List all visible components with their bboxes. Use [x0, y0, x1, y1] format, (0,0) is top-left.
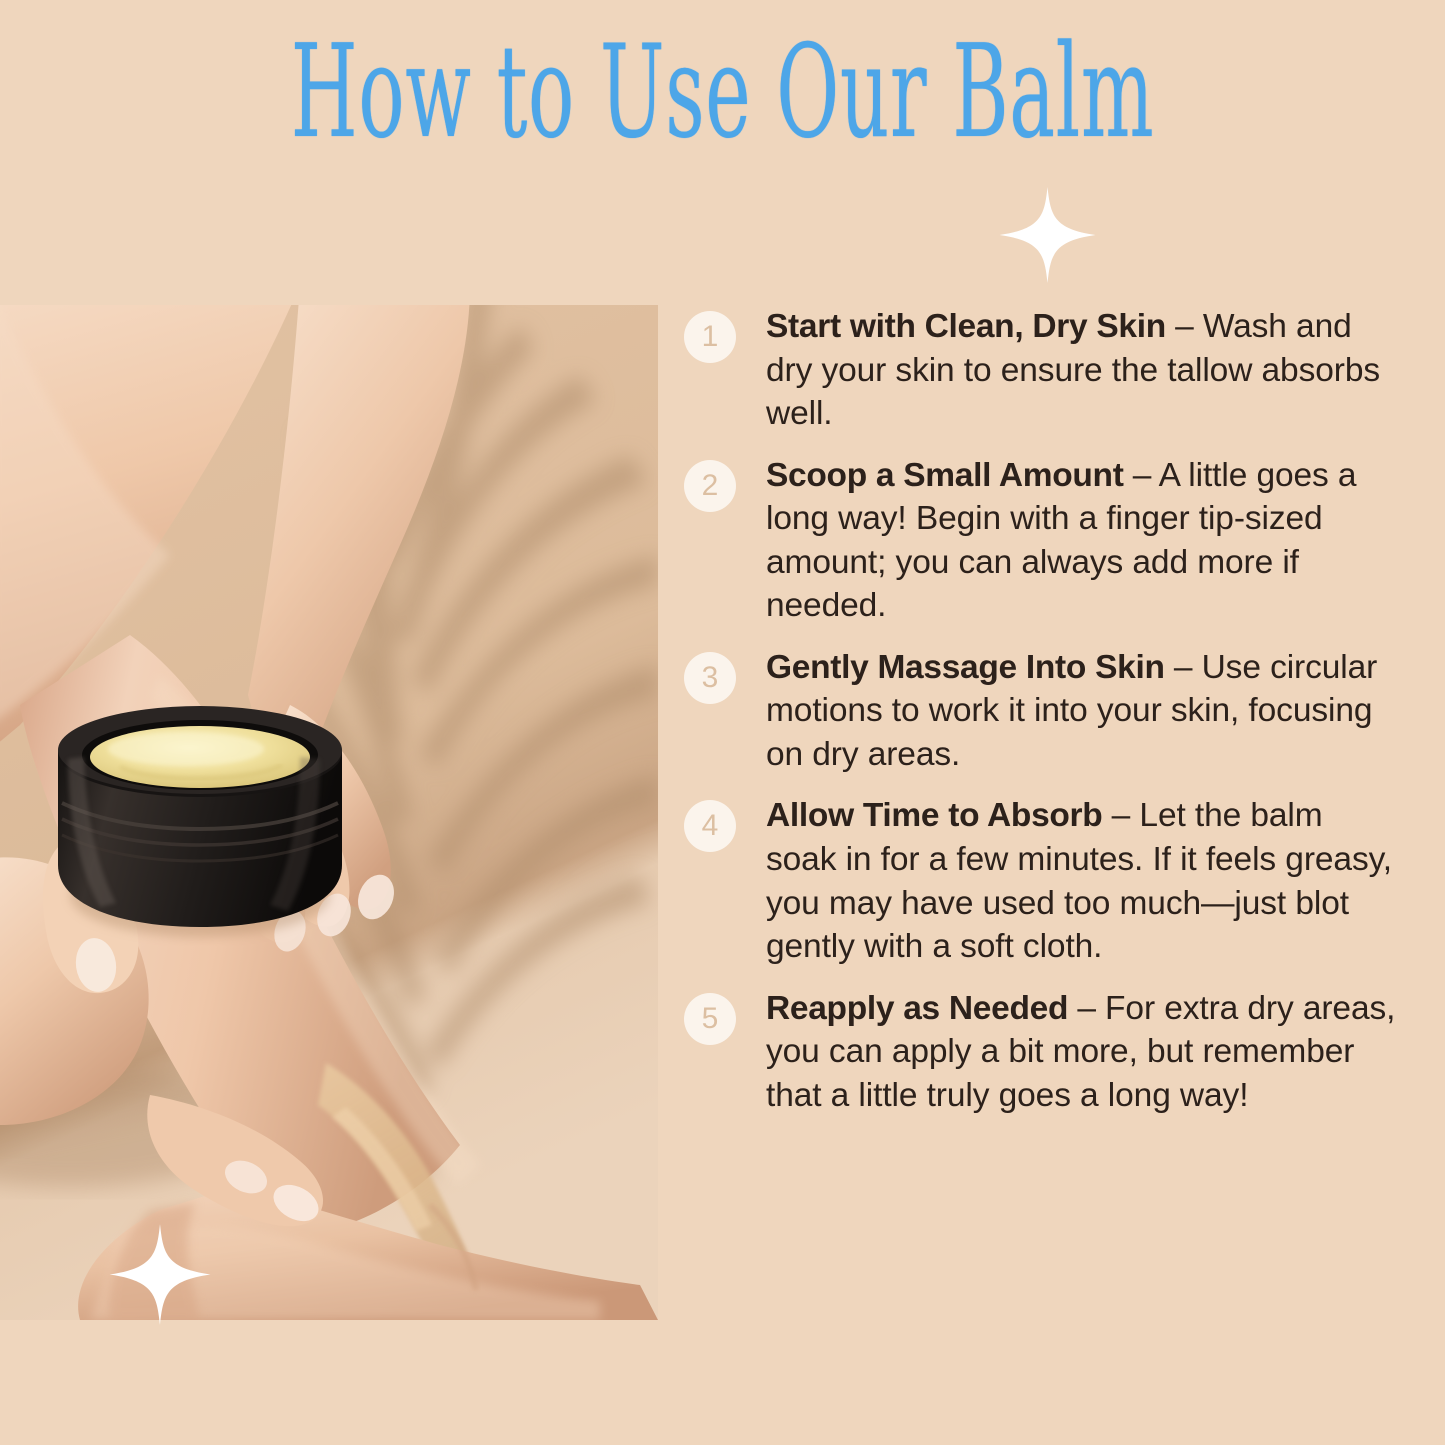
list-item: 5 Reapply as Needed – For extra dry area… — [684, 987, 1397, 1118]
step-heading: Allow Time to Absorb — [766, 797, 1102, 834]
sparkle-icon — [995, 185, 1100, 285]
step-number-badge: 1 — [684, 311, 736, 363]
step-number-badge: 5 — [684, 993, 736, 1045]
step-heading: Reapply as Needed — [766, 990, 1068, 1027]
instruction-steps-list: 1 Start with Clean, Dry Skin – Wash and … — [684, 305, 1397, 1135]
step-heading: Gently Massage Into Skin — [766, 649, 1165, 686]
header-banner: How to Use Our Balm — [0, 0, 1445, 185]
step-text: Allow Time to Absorb – Let the balm soak… — [766, 794, 1397, 968]
step-text: Start with Clean, Dry Skin – Wash and dr… — [766, 305, 1397, 436]
step-number-badge: 2 — [684, 460, 736, 512]
step-heading: Start with Clean, Dry Skin — [766, 308, 1166, 345]
list-item: 4 Allow Time to Absorb – Let the balm so… — [684, 794, 1397, 968]
balm-jar — [58, 706, 342, 937]
step-number-badge: 4 — [684, 800, 736, 852]
step-text: Scoop a Small Amount – A little goes a l… — [766, 454, 1397, 628]
step-number-badge: 3 — [684, 652, 736, 704]
product-usage-photo — [0, 305, 658, 1320]
page-title: How to Use Our Balm — [291, 29, 1154, 157]
list-item: 1 Start with Clean, Dry Skin – Wash and … — [684, 305, 1397, 436]
list-item: 3 Gently Massage Into Skin – Use circula… — [684, 646, 1397, 777]
step-text: Reapply as Needed – For extra dry areas,… — [766, 987, 1397, 1118]
step-heading: Scoop a Small Amount — [766, 457, 1124, 494]
list-item: 2 Scoop a Small Amount – A little goes a… — [684, 454, 1397, 628]
photo-illustration — [0, 305, 658, 1320]
step-text: Gently Massage Into Skin – Use circular … — [766, 646, 1397, 777]
